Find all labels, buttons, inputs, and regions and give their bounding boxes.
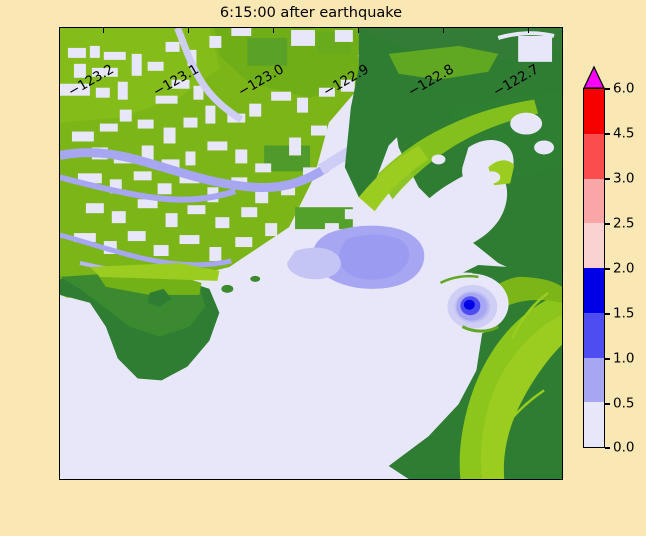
y-tick-mark	[59, 301, 60, 302]
colorbar-tick-label: 1.5	[613, 307, 634, 321]
colorbar-tick-mark	[605, 268, 610, 269]
x-tick-mark	[358, 28, 359, 33]
colorbar-tick-mark	[605, 223, 610, 224]
y-tick-mark	[59, 96, 60, 97]
colorbar-tick-label: 2.0	[613, 262, 634, 276]
colorbar-extend-arrow	[583, 66, 605, 89]
x-tick-mark	[528, 28, 529, 33]
colorbar-tick-label: 4.5	[613, 127, 634, 141]
figure-canvas: 6:15:00 after earthquake	[0, 0, 646, 536]
plot-title: 6:15:00 after earthquake	[59, 4, 563, 22]
colorbar-band-1.5-2.0	[584, 268, 604, 313]
colorbar-tick-mark	[605, 178, 610, 179]
colorbar-tick-mark	[605, 447, 610, 448]
colorbar-band-4.5-6.0	[584, 89, 604, 134]
x-tick-mark	[103, 28, 104, 33]
map-axes[interactable]: 49.20 49.15 49.10 49.05 49.00 48.95 48.9…	[59, 27, 563, 480]
colorbar-band-2.0-2.5	[584, 223, 604, 268]
colorbar-tick-mark	[605, 403, 610, 404]
colorbar-band-0.0-0.5	[584, 402, 604, 447]
y-tick-mark	[59, 438, 60, 439]
colorbar-band-2.5-3.0	[584, 179, 604, 224]
x-tick-mark	[188, 28, 189, 33]
colorbar-tick-label: 1.0	[613, 352, 634, 366]
colorbar-tick-label: 0.0	[613, 441, 634, 455]
colorbar-band-3.0-4.5	[584, 134, 604, 179]
colorbar-band-0.5-1.0	[584, 358, 604, 403]
colorbar-tick-mark	[605, 358, 610, 359]
y-tick-mark	[59, 28, 60, 29]
colorbar-band-1.0-1.5	[584, 313, 604, 358]
colorbar-tick-label: 2.5	[613, 217, 634, 231]
y-tick-mark	[59, 233, 60, 234]
colorbar-tick-label: 6.0	[613, 82, 634, 96]
colorbar-tick-mark	[605, 88, 610, 89]
colorbar-tick-label: 3.0	[613, 172, 634, 186]
x-tick-mark	[273, 28, 274, 33]
y-tick-mark	[59, 370, 60, 371]
x-tick-mark	[443, 28, 444, 33]
colorbar-tick-label: 0.5	[613, 397, 634, 411]
colorbar[interactable]	[583, 88, 605, 448]
colorbar-tick-mark	[605, 313, 610, 314]
map-raster	[60, 28, 562, 479]
y-tick-mark	[59, 165, 60, 166]
colorbar-tick-mark	[605, 133, 610, 134]
